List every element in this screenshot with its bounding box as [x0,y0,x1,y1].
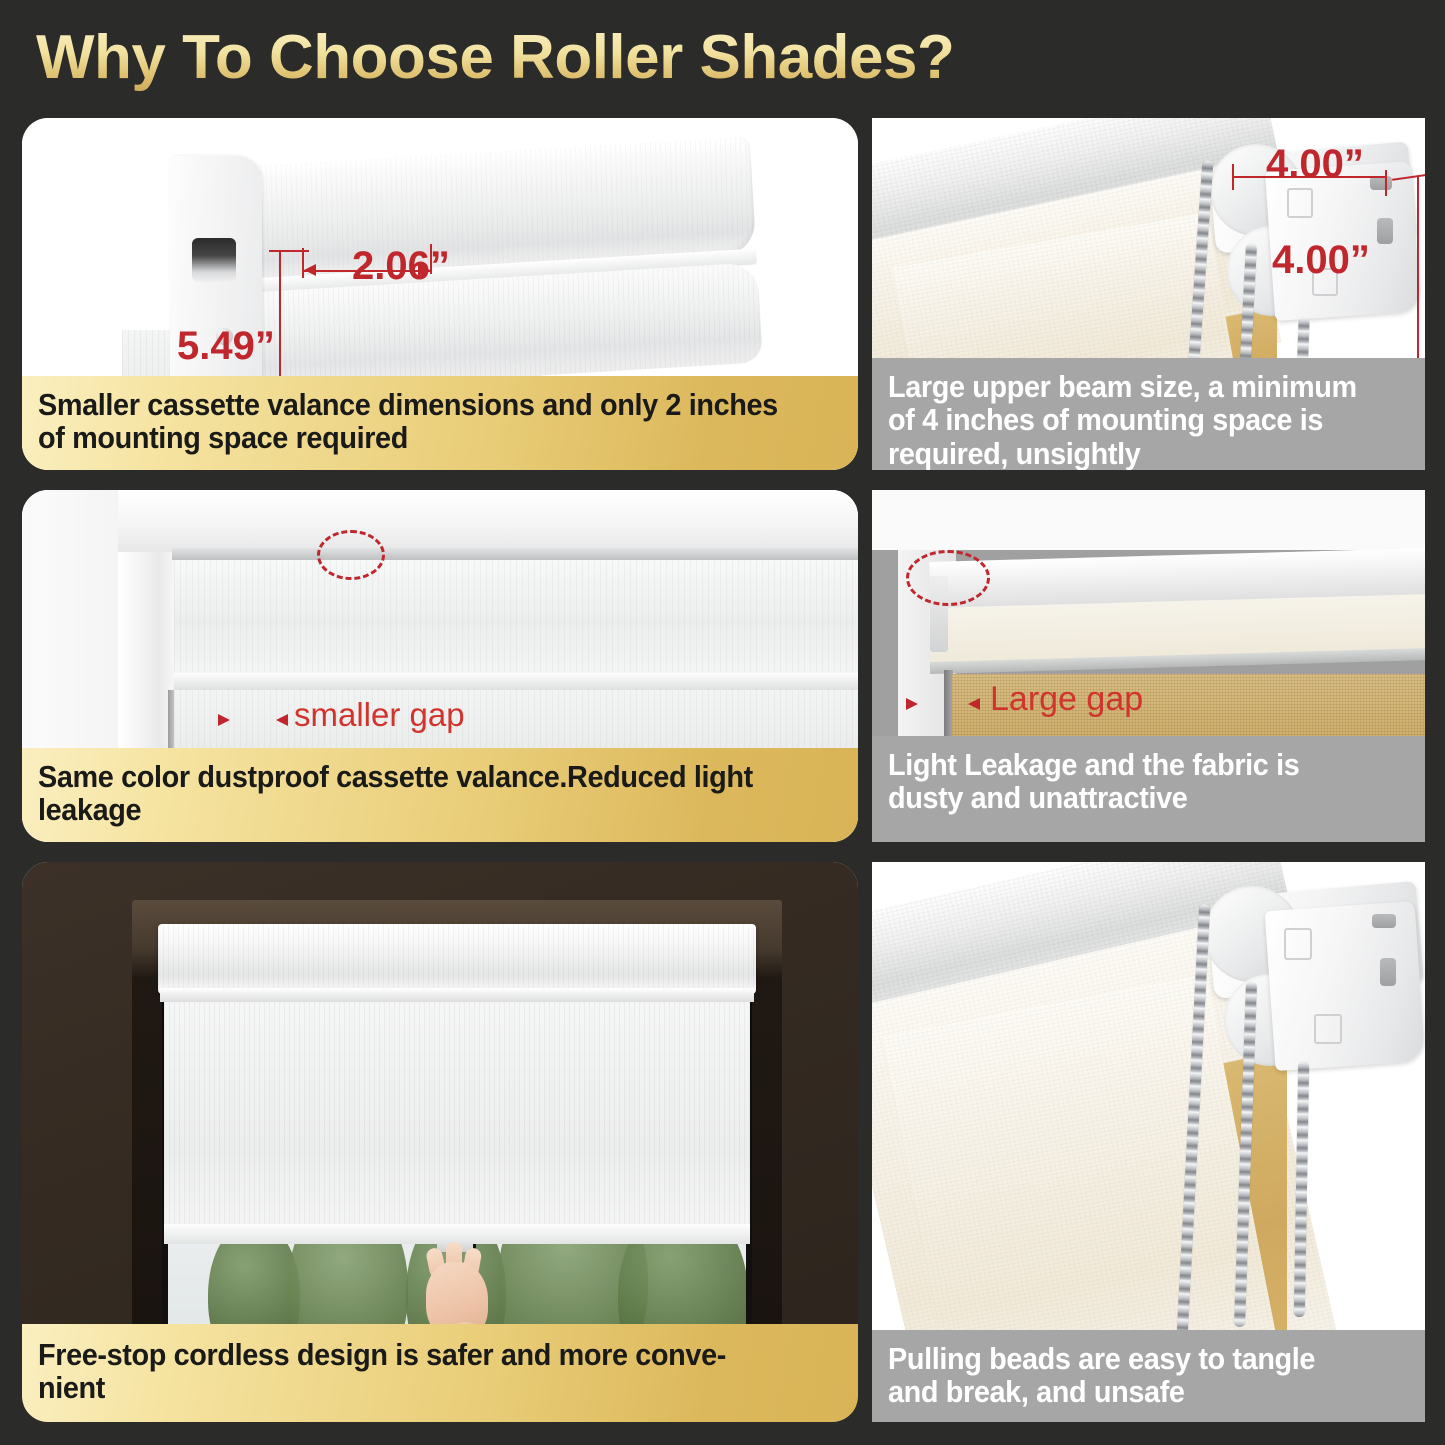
beam-height-label: 4.00” [1272,238,1370,283]
bracket-logo-upper-icon [1284,928,1312,960]
panel-caption-text: Pulling beads are easy to tangle and bre… [888,1342,1373,1409]
gap-arrow-left-icon [906,698,918,710]
width-arrow-left-icon [304,264,316,276]
width-dimension-label: 2.06” [352,244,450,289]
bracket-logo-lower-icon [1314,1014,1342,1044]
panel-con-large-beam: 4.00” 4.00” Large upper beam size, a min… [872,118,1425,470]
window-casing-top [118,490,858,552]
gap-arrow-right-icon [968,698,980,710]
panel-caption: Large upper beam size, a minimum of 4 in… [872,358,1425,470]
height-dimension-tick-top [269,250,309,252]
cassette-valance-body [191,137,764,405]
gap-arrow-left-icon [218,714,230,726]
beam-width-label: 4.00” [1266,142,1364,187]
panel-pro-cassette-dimensions: 2.06” 5.49” Smaller cassette valance dim… [22,118,858,470]
gap-highlight-circle-icon [317,530,385,580]
beam-width-tick-right [1385,170,1387,196]
bracket-slot-1-icon [1372,914,1396,928]
panel-caption: Pulling beads are easy to tangle and bre… [872,1330,1425,1422]
shade-mid-ledge [174,673,858,691]
panel-caption-text: Same color dustproof cassette valance.Re… [38,760,786,827]
panel-pro-smaller-gap: smaller gap Same color dustproof cassett… [22,490,858,842]
panel-pro-cordless: Free-stop cordless design is safer and m… [22,862,858,1422]
smaller-gap-label: smaller gap [294,696,465,734]
panel-caption-text: Light Leakage and the fabric is dusty an… [888,748,1373,815]
panel-caption: Same color dustproof cassette valance.Re… [22,748,858,842]
cassette-valance [158,924,756,994]
comparison-grid: 2.06” 5.49” Smaller cassette valance dim… [0,0,1445,1445]
large-gap-label: Large gap [990,680,1143,719]
panel-con-beaded-chain: Pulling beads are easy to tangle and bre… [872,862,1425,1422]
panel-caption: Light Leakage and the fabric is dusty an… [872,736,1425,842]
beam-width-tick-left [1232,164,1234,190]
cassette-headrail [172,548,858,560]
panel-con-light-leakage: Large gap Light Leakage and the fabric i… [872,490,1425,842]
height-dimension-label: 5.49” [177,324,275,369]
end-cap-slot-icon [192,238,236,282]
panel-caption: Smaller cassette valance dimensions and … [22,376,858,470]
shade-bracket-plate [1265,901,1425,1071]
bracket-slot-2-icon [1380,958,1396,986]
panel-caption-text: Smaller cassette valance dimensions and … [38,388,786,455]
panel-caption: Free-stop cordless design is safer and m… [22,1324,858,1422]
gap-arrow-right-icon [276,714,288,726]
bracket-logo-upper-icon [1287,188,1313,218]
caption-line-2: nient [38,1370,105,1405]
panel-caption-text: Free-stop cordless design is safer and m… [38,1338,726,1405]
cassette-valance-lip [160,988,754,1002]
bracket-slot-2-icon [1377,218,1393,244]
shade-upper-panel [174,560,858,675]
gap-highlight-circle-icon [906,550,990,606]
beam-height-dimension-line [1417,176,1419,366]
panel-caption-text: Large upper beam size, a minimum of 4 in… [888,370,1373,470]
bracket-slot-1-icon [1370,176,1392,190]
caption-line-1: Free-stop cordless design is safer and m… [38,1337,726,1372]
